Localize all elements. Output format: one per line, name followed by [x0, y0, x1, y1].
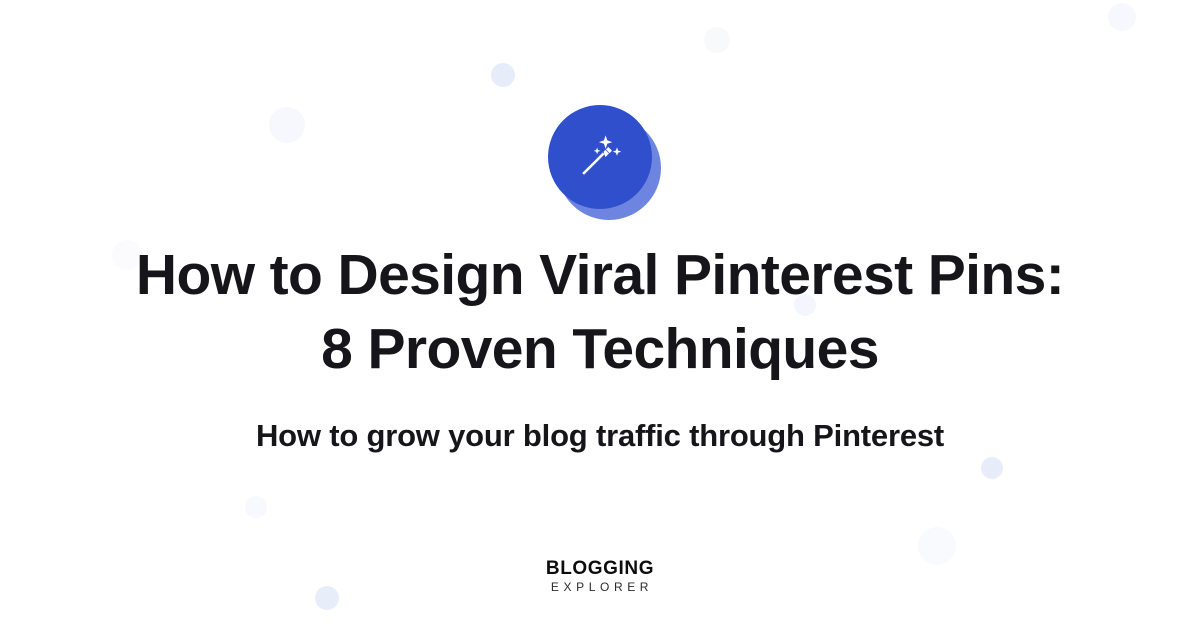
title-line-1: How to Design Viral Pinterest Pins:	[0, 238, 1200, 312]
featured-image-card: How to Design Viral Pinterest Pins: 8 Pr…	[0, 0, 1200, 628]
badge-circle	[548, 105, 652, 209]
decorative-circle	[491, 63, 515, 87]
brand-logo-secondary: EXPLORER	[4, 579, 1200, 596]
brand-logo-primary: BLOGGING	[0, 559, 1200, 579]
magic-wand-icon	[572, 129, 628, 185]
decorative-circle	[1108, 3, 1136, 31]
brand-logo: BLOGGING EXPLORER	[0, 559, 1200, 596]
page-title: How to Design Viral Pinterest Pins: 8 Pr…	[0, 238, 1200, 386]
page-subtitle: How to grow your blog traffic through Pi…	[0, 414, 1200, 458]
title-line-2: 8 Proven Techniques	[0, 312, 1200, 386]
decorative-circle	[704, 27, 730, 53]
decorative-circle	[981, 457, 1003, 479]
badge-container	[0, 105, 1200, 220]
decorative-circle	[245, 496, 267, 518]
